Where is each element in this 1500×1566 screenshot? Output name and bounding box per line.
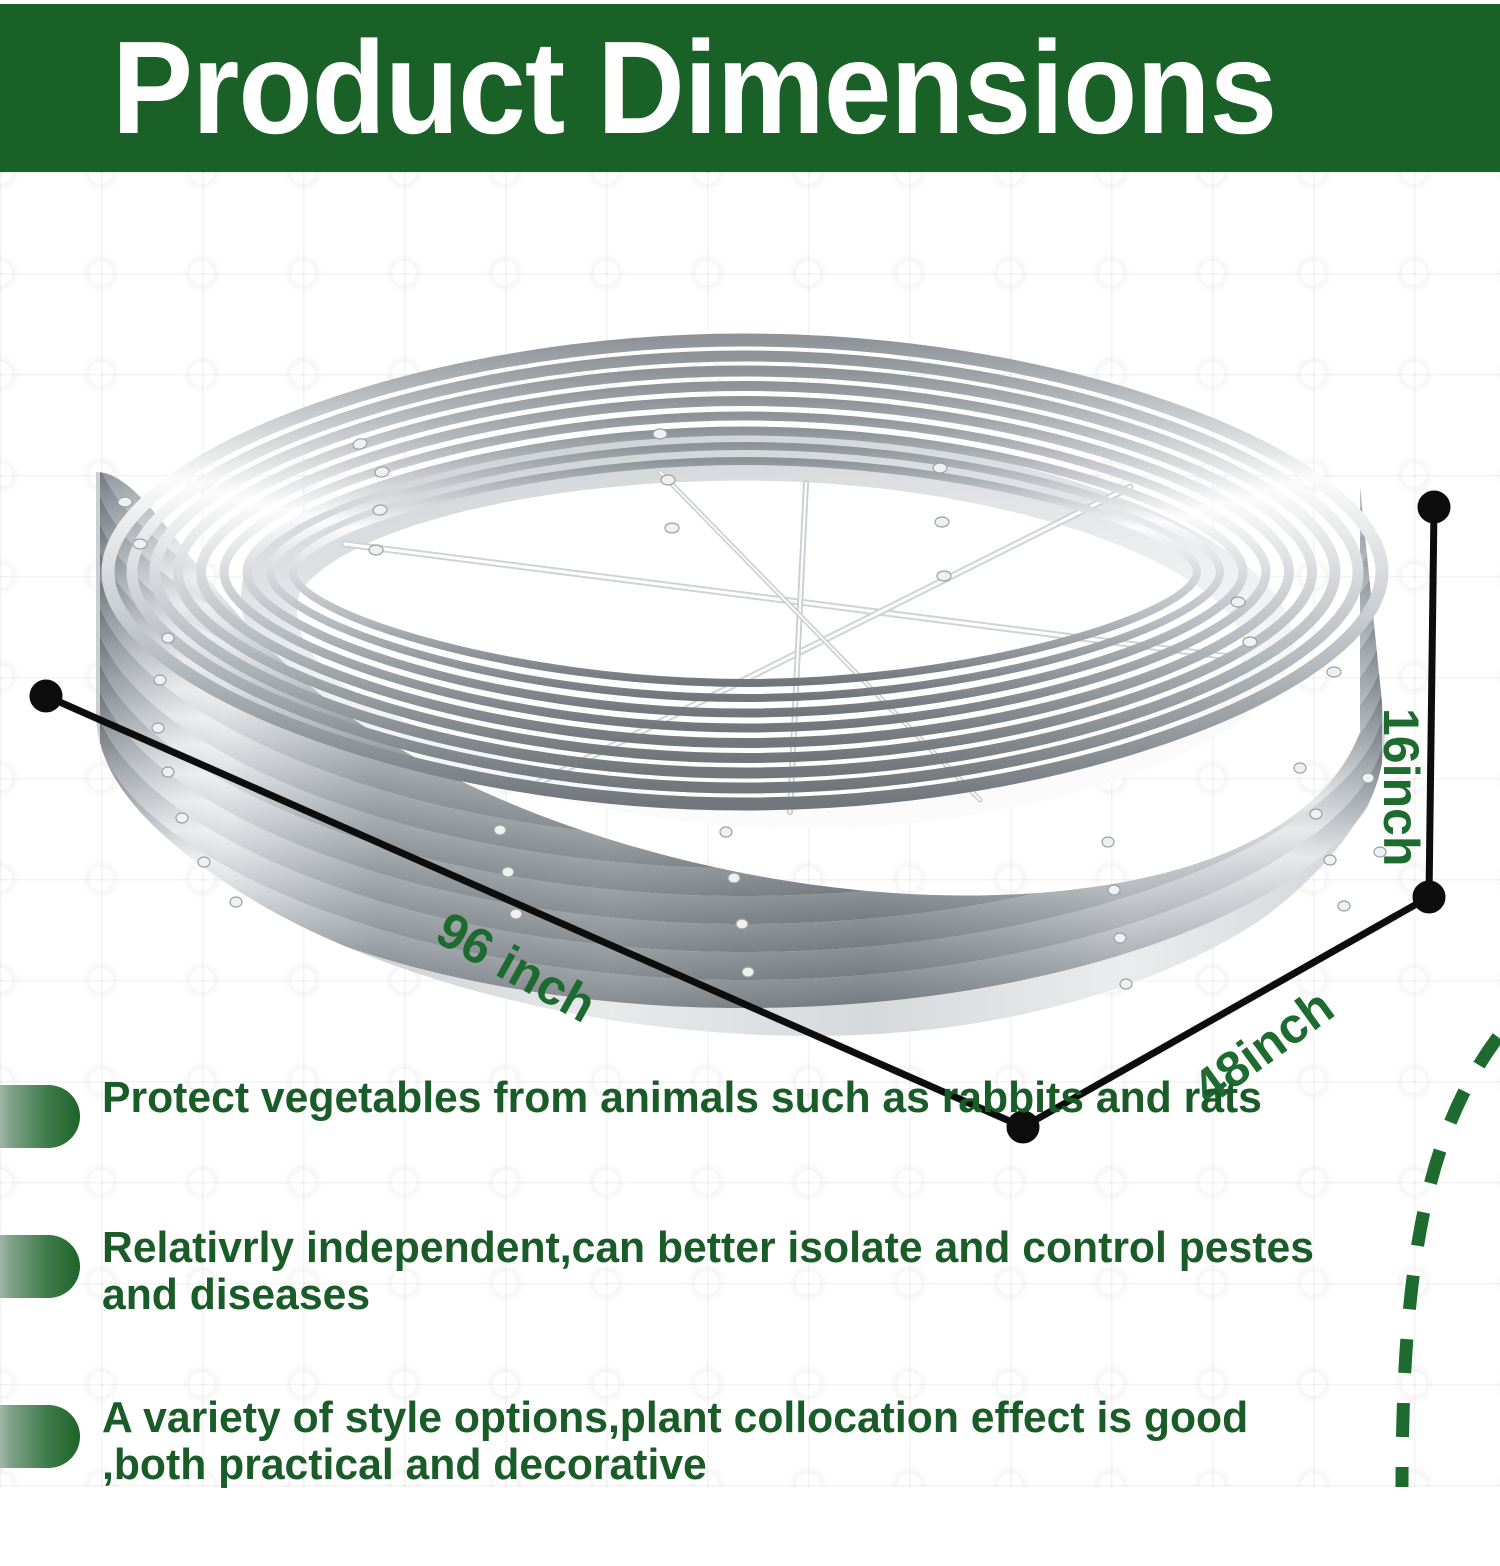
feature-text: Relativrly independent,can better isolat… (102, 1225, 1344, 1318)
feature-text: A variety of style options,plant colloca… (102, 1395, 1344, 1488)
assembly-screws (118, 429, 1386, 989)
header-banner: Product Dimensions (0, 4, 1500, 172)
dimension-label-length: 96 inch (427, 900, 606, 1034)
dimension-label-height: 16inch (1372, 708, 1430, 866)
dimension-endpoint-height-top (1421, 494, 1447, 520)
bullet-pill-icon (0, 1405, 80, 1468)
feature-list: Protect vegetables from animals such as … (0, 1075, 1420, 1566)
page-title: Product Dimensions (112, 22, 1276, 154)
top-rim (108, 340, 1382, 804)
dimension-endpoint-height-bottom (1416, 884, 1442, 910)
dimension-endpoint-length (33, 683, 59, 709)
list-item: Relativrly independent,can better isolat… (0, 1225, 1420, 1318)
interior-cross-braces (345, 472, 1230, 812)
bullet-pill-icon (0, 1235, 80, 1298)
bed-interior (241, 432, 1293, 828)
bullet-pill-icon (0, 1085, 80, 1148)
wall-ribs (96, 432, 1385, 1072)
corrugated-wall (96, 432, 1385, 1072)
list-item: A variety of style options,plant colloca… (0, 1395, 1420, 1488)
list-item: Protect vegetables from animals such as … (0, 1075, 1420, 1148)
feature-text: Protect vegetables from animals such as … (102, 1075, 1262, 1122)
dimension-line-length (46, 696, 1023, 1127)
